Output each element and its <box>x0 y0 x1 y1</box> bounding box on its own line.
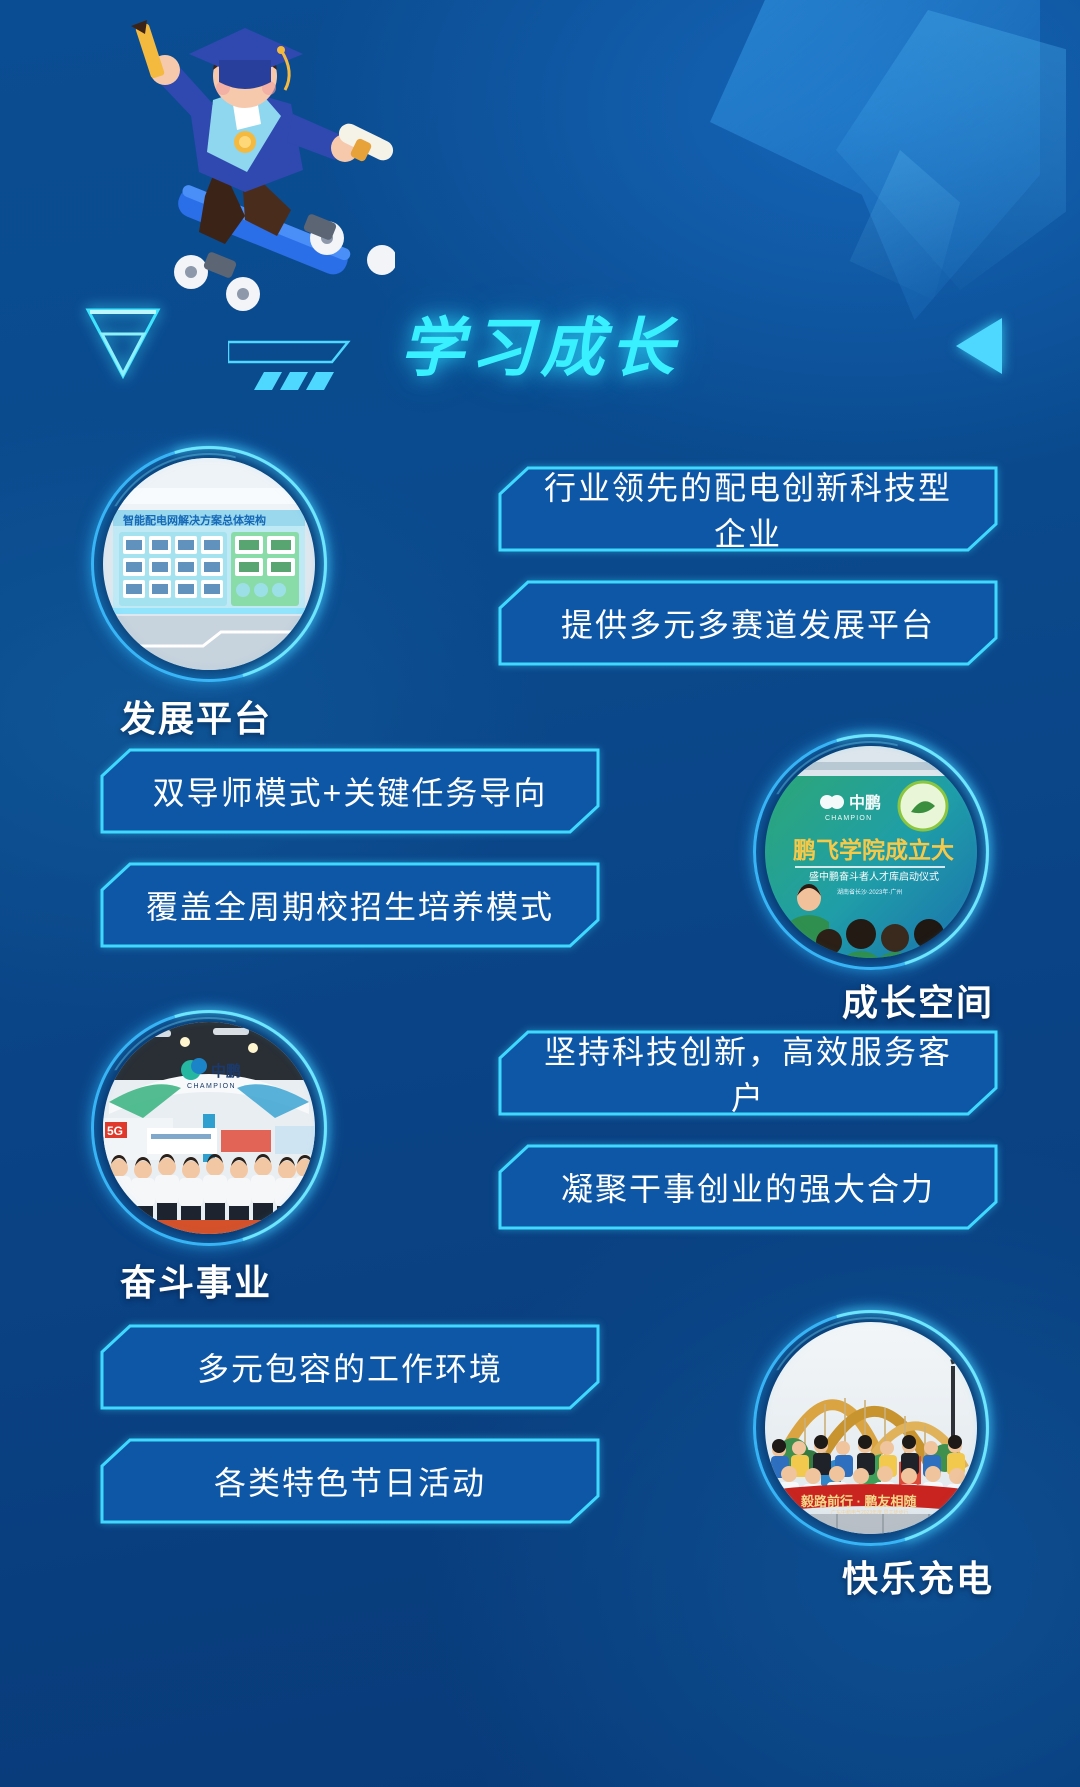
photo-ring-arc-decoration <box>711 1268 1030 1587</box>
feature-bar: 凝聚干事创业的强大合力 <box>498 1144 998 1230</box>
polygon-shape-icon <box>840 150 960 300</box>
section-striving-career: 中鹏 CHAMPION 5G <box>0 1012 1080 1302</box>
feature-bar-text: 行业领先的配电创新科技型企业 <box>498 463 998 555</box>
poster-header: 学习成长 <box>0 296 1080 406</box>
section-label-happy-recharge: 快乐充电 <box>842 1550 994 1602</box>
feature-bar: 双导师模式+关键任务导向 <box>100 748 600 834</box>
feature-bar: 坚持科技创新，高效服务客户 <box>498 1030 998 1116</box>
polygon-shape-icon <box>710 0 1040 320</box>
arrow-left-icon <box>956 318 1002 374</box>
photo-ring-arc-decoration <box>49 404 368 723</box>
section-development-platform: 智能配电网解决方案总体架构 <box>0 448 1080 728</box>
polygon-shape-icon <box>836 10 1066 290</box>
feature-bar-text: 双导师模式+关键任务导向 <box>100 768 600 814</box>
section-label-striving-career: 奋斗事业 <box>120 1254 272 1306</box>
feature-bar-text: 各类特色节日活动 <box>100 1458 600 1504</box>
feature-bar-text: 覆盖全周期校招生培养模式 <box>100 882 600 928</box>
photo-outdoor-group-event: 毅路前行 · 鹏友相随 广东中鹏电气2023年度 员工徒步行 <box>765 1322 977 1534</box>
feature-bar-text: 多元包容的工作环境 <box>100 1344 600 1390</box>
feature-bar: 行业领先的配电创新科技型企业 <box>498 466 998 552</box>
photo-team-at-trade-show-booth: 中鹏 CHAMPION 5G <box>103 1022 315 1234</box>
photo-ring-arc-decoration <box>711 692 1030 1011</box>
feature-bar-text: 坚持科技创新，高效服务客户 <box>498 1027 998 1119</box>
section-happy-recharge: 毅路前行 · 鹏友相随 广东中鹏电气2023年度 员工徒步行 快乐充电 多元包容… <box>0 1300 1080 1600</box>
feature-bar-text: 凝聚干事创业的强大合力 <box>498 1164 998 1210</box>
feature-bar: 多元包容的工作环境 <box>100 1324 600 1410</box>
page-title: 学习成长 <box>0 296 1080 400</box>
photo-exhibition-display-panel: 智能配电网解决方案总体架构 <box>103 458 315 670</box>
feature-bar: 各类特色节日活动 <box>100 1438 600 1524</box>
section-growth-space: 中鹏 CHAMPION 鹏飞学院成立大 盛中鹏奋斗者人才库启动仪式 湖南省长沙·… <box>0 724 1080 1014</box>
photo-ring-arc-decoration <box>49 968 368 1287</box>
feature-bar: 覆盖全周期校招生培养模式 <box>100 862 600 948</box>
feature-bar: 提供多元多赛道发展平台 <box>498 580 998 666</box>
feature-bar-text: 提供多元多赛道发展平台 <box>498 600 998 646</box>
photo-academy-founding-ceremony: 中鹏 CHAMPION 鹏飞学院成立大 盛中鹏奋斗者人才库启动仪式 湖南省长沙·… <box>765 746 977 958</box>
